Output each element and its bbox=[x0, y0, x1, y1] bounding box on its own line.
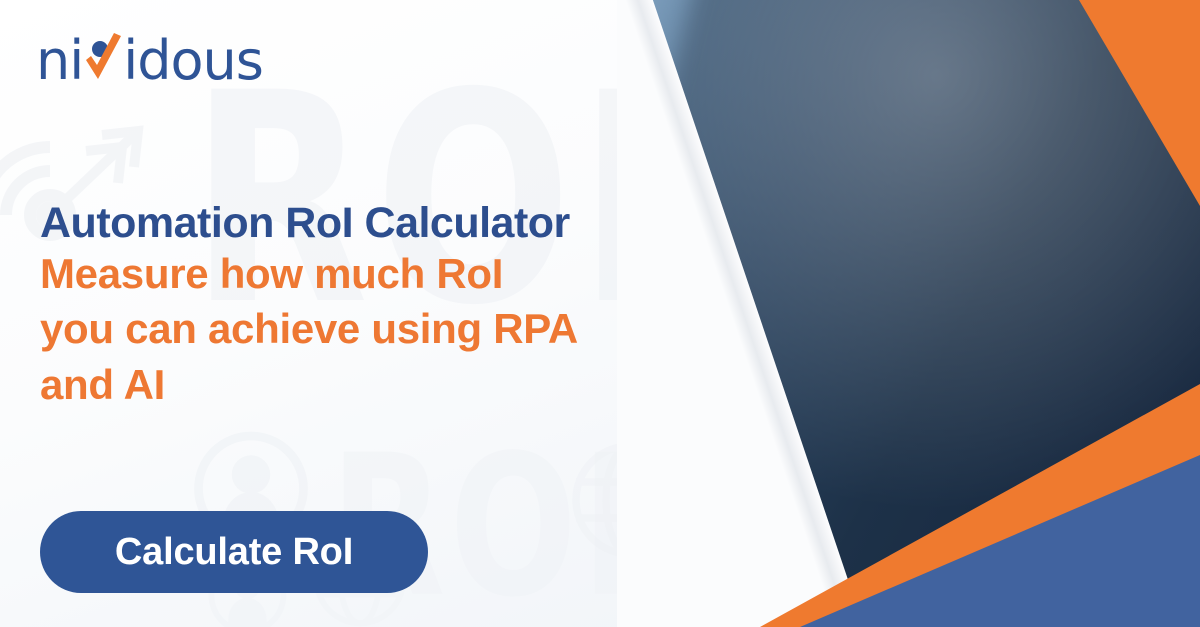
nividous-logo[interactable]: ni idous bbox=[36, 32, 263, 88]
page-title: Automation RoI Calculator bbox=[40, 199, 570, 248]
subheadline-line-3: and AI bbox=[40, 357, 680, 412]
subheadline: Measure how much RoI you can achieve usi… bbox=[40, 246, 680, 412]
subheadline-line-1: Measure how much RoI bbox=[40, 246, 680, 301]
logo-text-before: ni bbox=[36, 34, 83, 88]
calculate-roi-button[interactable]: Calculate RoI bbox=[40, 511, 428, 593]
subheadline-line-2: you can achieve using RPA bbox=[40, 301, 680, 356]
roi-calculator-banner: ROI ROI bbox=[0, 0, 1200, 627]
logo-text-after: idous bbox=[123, 34, 263, 88]
content-column: ni idous Automation RoI Calculator Measu… bbox=[0, 0, 640, 627]
logo-checkmark-icon bbox=[81, 32, 125, 88]
